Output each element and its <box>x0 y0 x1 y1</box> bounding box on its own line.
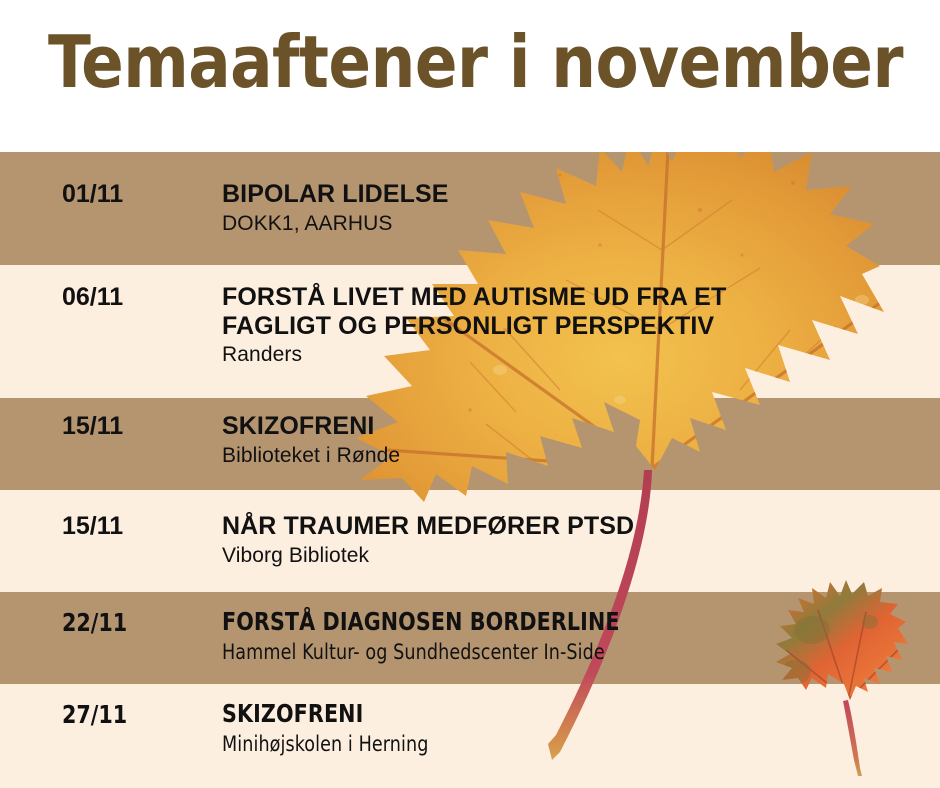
event-details: NÅR TRAUMER MEDFØRER PTSD Viborg Bibliot… <box>222 512 930 568</box>
event-title: SKIZOFRENI <box>222 700 873 729</box>
event-date: 15/11 <box>62 514 123 539</box>
event-title: FORSTÅ LIVET MED AUTISME UD FRA ET FAGLI… <box>222 283 930 340</box>
event-row-6: 27/11 SKIZOFRENI Minihøjskolen i Herning <box>0 684 940 788</box>
event-date: 01/11 <box>62 182 123 207</box>
poster-header: Temaaftener i november <box>0 0 940 152</box>
event-venue: Biblioteket i Rønde <box>222 444 930 469</box>
event-venue: DOKK1, AARHUS <box>222 212 930 237</box>
event-details: FORSTÅ LIVET MED AUTISME UD FRA ET FAGLI… <box>222 283 930 368</box>
event-details: SKIZOFRENI Minihøjskolen i Herning <box>222 700 930 756</box>
event-title: BIPOLAR LIDELSE <box>222 180 930 209</box>
event-date: 06/11 <box>62 285 123 310</box>
event-row-3: 15/11 SKIZOFRENI Biblioteket i Rønde <box>0 398 940 490</box>
event-row-1: 01/11 BIPOLAR LIDELSE DOKK1, AARHUS <box>0 152 940 265</box>
event-venue: Hammel Kultur- og Sundhedscenter In-Side <box>222 640 880 665</box>
event-title: FORSTÅ DIAGNOSEN BORDERLINE <box>222 608 873 637</box>
event-venue: Minihøjskolen i Herning <box>222 732 880 757</box>
event-title: SKIZOFRENI <box>222 412 930 441</box>
event-date: 15/11 <box>62 414 123 439</box>
event-details: SKIZOFRENI Biblioteket i Rønde <box>222 412 930 468</box>
event-venue: Randers <box>222 343 930 368</box>
event-row-2: 06/11 FORSTÅ LIVET MED AUTISME UD FRA ET… <box>0 265 940 398</box>
event-details: FORSTÅ DIAGNOSEN BORDERLINE Hammel Kultu… <box>222 608 930 664</box>
event-title: NÅR TRAUMER MEDFØRER PTSD <box>222 512 930 541</box>
event-date: 22/11 <box>62 610 127 635</box>
event-venue: Viborg Bibliotek <box>222 544 930 569</box>
poster-canvas: Temaaftener i november 01/11 BIPOLAR LID… <box>0 0 940 788</box>
event-row-4: 15/11 NÅR TRAUMER MEDFØRER PTSD Viborg B… <box>0 490 940 592</box>
event-row-5: 22/11 FORSTÅ DIAGNOSEN BORDERLINE Hammel… <box>0 592 940 684</box>
page-title: Temaaftener i november <box>48 26 903 98</box>
event-date: 27/11 <box>62 702 127 727</box>
event-details: BIPOLAR LIDELSE DOKK1, AARHUS <box>222 180 930 236</box>
